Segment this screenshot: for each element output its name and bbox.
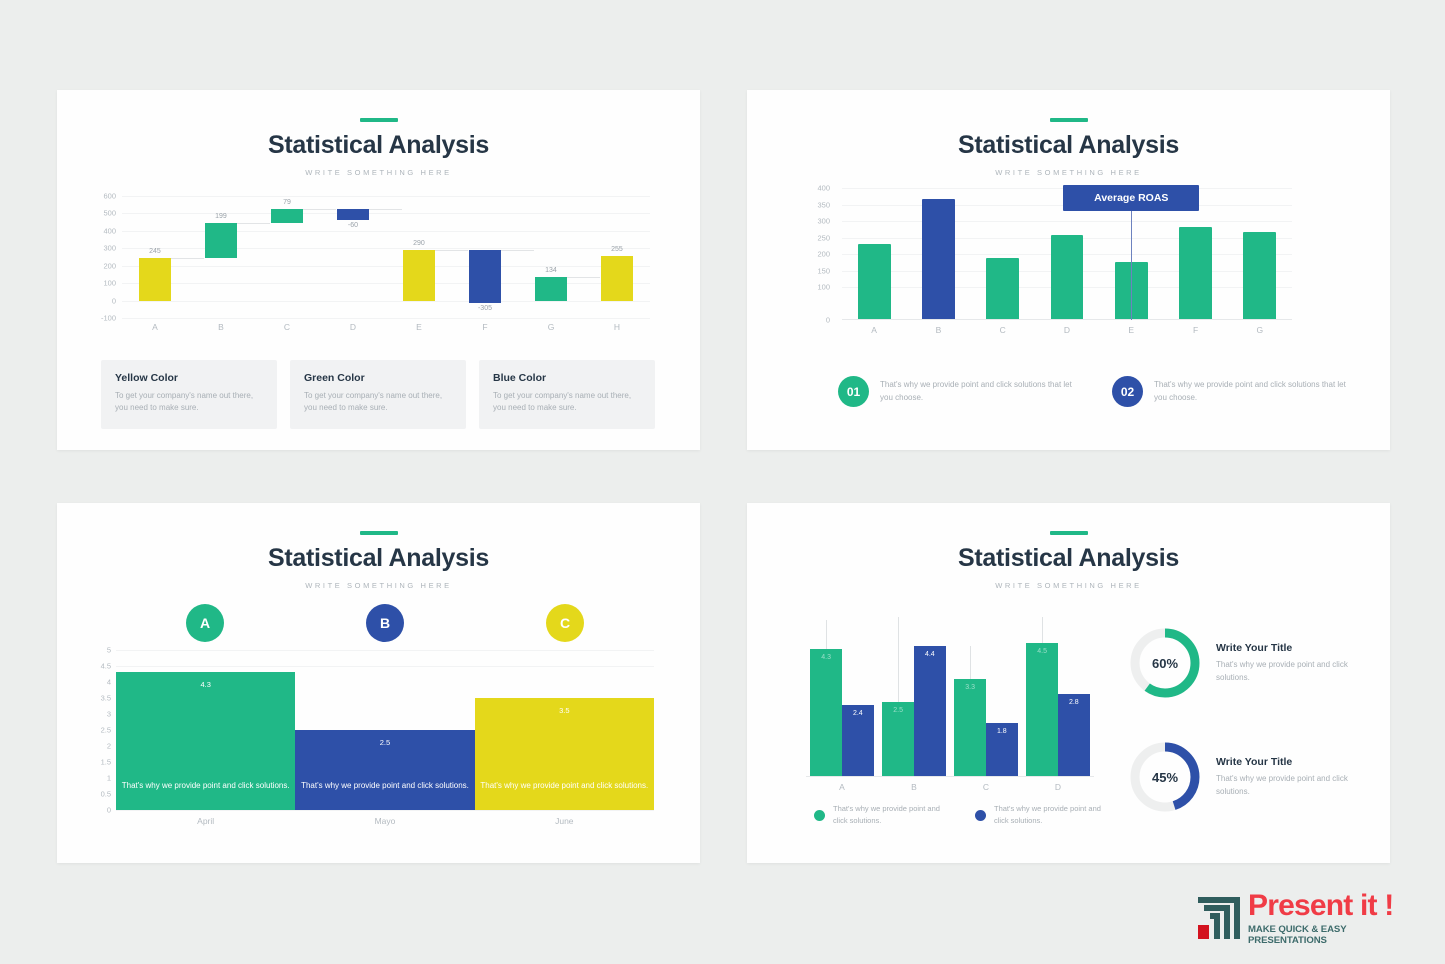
bullet-item-01[interactable]: 01That's why we provide point and click … xyxy=(838,376,1074,407)
roas-bar-A[interactable] xyxy=(858,244,891,319)
waterfall-bar-H[interactable] xyxy=(601,256,634,300)
title-rule xyxy=(1050,118,1088,122)
grouped-value-label: 4.3 xyxy=(810,654,842,661)
category-badge-B[interactable]: B xyxy=(366,604,404,642)
page-subtitle: WRITE SOMETHING HERE xyxy=(57,168,700,177)
legend-color-dot xyxy=(814,810,825,821)
grouped-bar-D-s1[interactable]: 4.5 xyxy=(1026,643,1058,776)
roas-y-axis: 4003503002502001501000 xyxy=(800,188,830,320)
gridline xyxy=(122,248,650,249)
grouped-bar-B-s1[interactable]: 2.5 xyxy=(882,702,914,776)
category-badges: ABC xyxy=(115,604,655,642)
x-tick-label-A: A xyxy=(842,325,906,335)
error-bar-B xyxy=(898,617,899,702)
bullet-text: That's why we provide point and click so… xyxy=(880,379,1074,405)
waterfall-connector xyxy=(435,250,468,251)
donut-chart-60%[interactable]: 60% xyxy=(1128,626,1202,700)
category-badge-C[interactable]: C xyxy=(546,604,584,642)
x-tick-label-E: E xyxy=(1099,325,1163,335)
x-tick-label-B: B xyxy=(906,325,970,335)
callout-stem xyxy=(1131,206,1132,320)
bullet-text: That's why we provide point and click so… xyxy=(1154,379,1348,405)
x-tick-label-D: D xyxy=(1035,325,1099,335)
legend-card-body: To get your company's name out there, yo… xyxy=(304,390,452,415)
x-tick-label-H: H xyxy=(584,322,650,332)
waterfall-connector xyxy=(501,250,534,251)
x-tick-label-G: G xyxy=(518,322,584,332)
slide1-header: Statistical Analysis WRITE SOMETHING HER… xyxy=(57,90,700,177)
grouped-value-label: 4.5 xyxy=(1026,648,1058,655)
waterfall-connector xyxy=(237,223,270,224)
page-title: Statistical Analysis xyxy=(747,132,1390,160)
page-title: Statistical Analysis xyxy=(57,545,700,573)
error-bar-A xyxy=(826,620,827,649)
waterfall-chart[interactable]: 6005004003002001000-100 24519979-60290-3… xyxy=(96,196,658,336)
gridline xyxy=(122,318,650,319)
y-tick-label: 4 xyxy=(107,678,111,686)
donut-body: That's why we provide point and click so… xyxy=(1216,659,1358,684)
y-tick-label: 100 xyxy=(103,279,116,287)
legend-item-text: That's why we provide point and click so… xyxy=(833,803,953,827)
bullet-number-badge: 02 xyxy=(1112,376,1143,407)
y-tick-label: 0 xyxy=(107,806,111,814)
logo-mark-icon xyxy=(1196,893,1242,941)
y-tick-label: 0 xyxy=(112,297,116,305)
waterfall-bar-D[interactable] xyxy=(337,209,370,219)
category-badge-A[interactable]: A xyxy=(186,604,224,642)
donut-body: That's why we provide point and click so… xyxy=(1216,773,1358,798)
grouped-value-label: 1.8 xyxy=(986,728,1018,735)
x-tick-label-April: April xyxy=(116,816,295,826)
grouped-value-label: 2.5 xyxy=(882,707,914,714)
waterfall-connector xyxy=(303,209,336,210)
donut-row-0: 60%Write Your TitleThat's why we provide… xyxy=(1128,626,1358,700)
page-subtitle: WRITE SOMETHING HERE xyxy=(747,168,1390,177)
roas-plot-area: Average ROAS xyxy=(842,188,1292,320)
grouped-bar-A-s2[interactable]: 2.4 xyxy=(842,705,874,776)
y-tick-label: 2.5 xyxy=(101,726,111,734)
y-tick-label: 3 xyxy=(107,710,111,718)
y-tick-label: 600 xyxy=(103,192,116,200)
waterfall-bar-E[interactable] xyxy=(403,250,436,301)
grouped-x-axis: ABCD xyxy=(806,782,1094,792)
numbered-bullets: 01That's why we provide point and click … xyxy=(838,376,1348,407)
donut-title: Write Your Title xyxy=(1216,642,1358,654)
grouped-bar-C-s1[interactable]: 3.3 xyxy=(954,679,986,776)
months-plot-area: 4.3That's why we provide point and click… xyxy=(116,650,654,810)
y-tick-label: 200 xyxy=(103,262,116,270)
gridline xyxy=(122,196,650,197)
gridline xyxy=(122,231,650,232)
grouped-bar-A-s1[interactable]: 4.3 xyxy=(810,649,842,776)
waterfall-connector xyxy=(567,277,600,278)
legend-card-body: To get your company's name out there, yo… xyxy=(493,390,641,415)
waterfall-x-axis: ABCDEFGH xyxy=(122,322,650,332)
y-tick-label: 300 xyxy=(103,245,116,253)
donut-text-group: Write Your TitleThat's why we provide po… xyxy=(1216,756,1358,798)
waterfall-value-label-A: 245 xyxy=(128,248,182,255)
legend-card-title: Blue Color xyxy=(493,372,641,384)
page-title: Statistical Analysis xyxy=(57,132,700,160)
x-tick-label-C: C xyxy=(950,782,1022,792)
y-tick-label: 3.5 xyxy=(101,694,111,702)
grouped-bar-C-s2[interactable]: 1.8 xyxy=(986,723,1018,776)
x-tick-label-B: B xyxy=(878,782,950,792)
grouped-value-label: 2.4 xyxy=(842,710,874,717)
y-tick-label: -100 xyxy=(101,314,116,322)
y-tick-label: 500 xyxy=(103,210,116,218)
y-tick-label: 1.5 xyxy=(101,758,111,766)
x-tick-label-F: F xyxy=(1163,325,1227,335)
months-x-axis: AprilMayoJune xyxy=(116,816,654,826)
y-tick-label: 0.5 xyxy=(101,790,111,798)
gridline xyxy=(116,666,654,667)
waterfall-plot-area: 24519979-60290-305134255 xyxy=(122,196,650,318)
y-tick-label: 200 xyxy=(817,250,830,258)
legend-card-title: Green Color xyxy=(304,372,452,384)
grouped-value-label: 4.4 xyxy=(914,651,946,658)
month-value-label: 2.5 xyxy=(295,738,474,747)
roas-x-axis: ABCDEFG xyxy=(842,325,1292,335)
slide4-header: Statistical Analysis WRITE SOMETHING HER… xyxy=(747,503,1390,590)
y-tick-label: 5 xyxy=(107,646,111,654)
badge-cell: B xyxy=(295,604,475,642)
gridline xyxy=(116,810,654,811)
x-tick-label-A: A xyxy=(806,782,878,792)
month-bar-April[interactable]: 4.3That's why we provide point and click… xyxy=(116,672,295,810)
gridline xyxy=(122,283,650,284)
x-tick-label-E: E xyxy=(386,322,452,332)
waterfall-bar-C[interactable] xyxy=(271,209,304,223)
x-tick-label-C: C xyxy=(254,322,320,332)
bullet-item-02[interactable]: 02That's why we provide point and click … xyxy=(1112,376,1348,407)
color-legend-row: Yellow ColorTo get your company's name o… xyxy=(101,360,655,429)
donut-stats-list: 60%Write Your TitleThat's why we provide… xyxy=(1128,626,1358,854)
y-tick-label: 150 xyxy=(817,267,830,275)
waterfall-value-label-E: 290 xyxy=(392,240,446,247)
slide3-header: Statistical Analysis WRITE SOMETHING HER… xyxy=(57,503,700,590)
page-title: Statistical Analysis xyxy=(747,545,1390,573)
grouped-value-label: 2.8 xyxy=(1058,699,1090,706)
logo-wordmark: Present it ! xyxy=(1248,891,1426,921)
waterfall-y-axis: 6005004003002001000-100 xyxy=(96,196,116,318)
month-bar-June[interactable]: 3.5That's why we provide point and click… xyxy=(475,698,654,810)
x-tick-label-D: D xyxy=(320,322,386,332)
y-tick-label: 1 xyxy=(107,774,111,782)
x-tick-label-D: D xyxy=(1022,782,1094,792)
waterfall-bar-B[interactable] xyxy=(205,223,238,258)
waterfall-bar-F[interactable] xyxy=(469,250,502,303)
present-it-logo[interactable]: Present it ! MAKE QUICK & EASY PRESENTAT… xyxy=(1196,893,1426,947)
x-tick-label-A: A xyxy=(122,322,188,332)
y-tick-label: 300 xyxy=(817,217,830,225)
legend-item-0[interactable]: That's why we provide point and click so… xyxy=(814,803,953,827)
waterfall-value-label-H: 255 xyxy=(590,246,644,253)
gridline xyxy=(116,650,654,651)
grouped-bar-D-s2[interactable]: 2.8 xyxy=(1058,694,1090,776)
title-rule xyxy=(360,118,398,122)
average-roas-callout[interactable]: Average ROAS xyxy=(1063,185,1199,211)
x-tick-label-C: C xyxy=(971,325,1035,335)
logo-tagline: MAKE QUICK & EASY PRESENTATIONS xyxy=(1248,924,1426,946)
waterfall-bar-G[interactable] xyxy=(535,277,568,300)
waterfall-bar-A[interactable] xyxy=(139,258,172,301)
legend-card-title: Yellow Color xyxy=(115,372,263,384)
waterfall-connector xyxy=(369,209,402,210)
grouped-bar-B-s2[interactable]: 4.4 xyxy=(914,646,946,776)
bullet-number-badge: 01 xyxy=(838,376,869,407)
y-tick-label: 0 xyxy=(826,316,830,324)
month-bar-text: That's why we provide point and click so… xyxy=(116,779,295,792)
roas-bar-D[interactable] xyxy=(1051,235,1084,319)
x-tick-label-B: B xyxy=(188,322,254,332)
grouped-value-label: 3.3 xyxy=(954,684,986,691)
month-bar-Mayo[interactable]: 2.5That's why we provide point and click… xyxy=(295,730,474,810)
donut-chart-45%[interactable]: 45% xyxy=(1128,740,1202,814)
legend-card-2[interactable]: Blue ColorTo get your company's name out… xyxy=(479,360,655,429)
legend-card-1[interactable]: Green ColorTo get your company's name ou… xyxy=(290,360,466,429)
x-tick-label-G: G xyxy=(1228,325,1292,335)
donut-percent-label: 45% xyxy=(1141,753,1189,801)
badge-cell: C xyxy=(475,604,655,642)
waterfall-connector xyxy=(171,258,204,259)
roas-bar-chart[interactable]: 4003503002502001501000 Average ROAS ABCD… xyxy=(800,188,1300,343)
y-tick-label: 100 xyxy=(817,283,830,291)
x-tick-label-June: June xyxy=(475,816,654,826)
badge-cell: A xyxy=(115,604,295,642)
month-value-label: 4.3 xyxy=(116,680,295,689)
page-subtitle: WRITE SOMETHING HERE xyxy=(747,581,1390,590)
roas-bar-B[interactable] xyxy=(922,199,955,319)
y-tick-label: 2 xyxy=(107,742,111,750)
gridline xyxy=(122,301,650,302)
donut-row-1: 45%Write Your TitleThat's why we provide… xyxy=(1128,740,1358,814)
legend-item-1[interactable]: That's why we provide point and click so… xyxy=(975,803,1114,827)
y-tick-label: 400 xyxy=(817,184,830,192)
y-tick-label: 4.5 xyxy=(101,662,111,670)
slide2-header: Statistical Analysis WRITE SOMETHING HER… xyxy=(747,90,1390,177)
y-tick-label: 250 xyxy=(817,234,830,242)
roas-bar-C[interactable] xyxy=(986,258,1019,319)
y-tick-label: 350 xyxy=(817,201,830,209)
x-tick-label-F: F xyxy=(452,322,518,332)
legend-card-0[interactable]: Yellow ColorTo get your company's name o… xyxy=(101,360,277,429)
error-bar-D xyxy=(1042,617,1043,644)
month-bar-text: That's why we provide point and click so… xyxy=(475,779,654,792)
legend-item-text: That's why we provide point and click so… xyxy=(994,803,1114,827)
error-bar-C xyxy=(970,646,971,678)
months-y-axis: 54.543.532.521.510.50 xyxy=(98,650,111,810)
donut-text-group: Write Your TitleThat's why we provide po… xyxy=(1216,642,1358,684)
title-rule xyxy=(360,531,398,535)
grouped-plot-area: 4.32.42.54.43.31.84.52.8 xyxy=(806,615,1094,777)
logo-text-group: Present it ! MAKE QUICK & EASY PRESENTAT… xyxy=(1248,891,1426,946)
y-tick-label: 400 xyxy=(103,227,116,235)
grouped-bar-chart[interactable]: 4.32.42.54.43.31.84.52.8 ABCD xyxy=(800,615,1100,795)
legend-color-dot xyxy=(975,810,986,821)
waterfall-value-label-C: 79 xyxy=(260,199,314,206)
series-legend: That's why we provide point and click so… xyxy=(814,803,1114,827)
donut-title: Write Your Title xyxy=(1216,756,1358,768)
gridline xyxy=(842,221,1292,222)
title-rule xyxy=(1050,531,1088,535)
months-bar-chart[interactable]: 54.543.532.521.510.50 4.3That's why we p… xyxy=(98,650,658,830)
roas-bar-G[interactable] xyxy=(1243,232,1276,319)
legend-card-body: To get your company's name out there, yo… xyxy=(115,390,263,415)
month-bar-text: That's why we provide point and click so… xyxy=(295,779,474,792)
donut-percent-label: 60% xyxy=(1141,639,1189,687)
month-value-label: 3.5 xyxy=(475,706,654,715)
roas-bar-F[interactable] xyxy=(1179,227,1212,319)
waterfall-value-label-F: -305 xyxy=(458,305,512,312)
waterfall-value-label-G: 134 xyxy=(524,267,578,274)
x-tick-label-Mayo: Mayo xyxy=(295,816,474,826)
page-subtitle: WRITE SOMETHING HERE xyxy=(57,581,700,590)
waterfall-value-label-D: -60 xyxy=(326,222,380,229)
waterfall-value-label-B: 199 xyxy=(194,213,248,220)
